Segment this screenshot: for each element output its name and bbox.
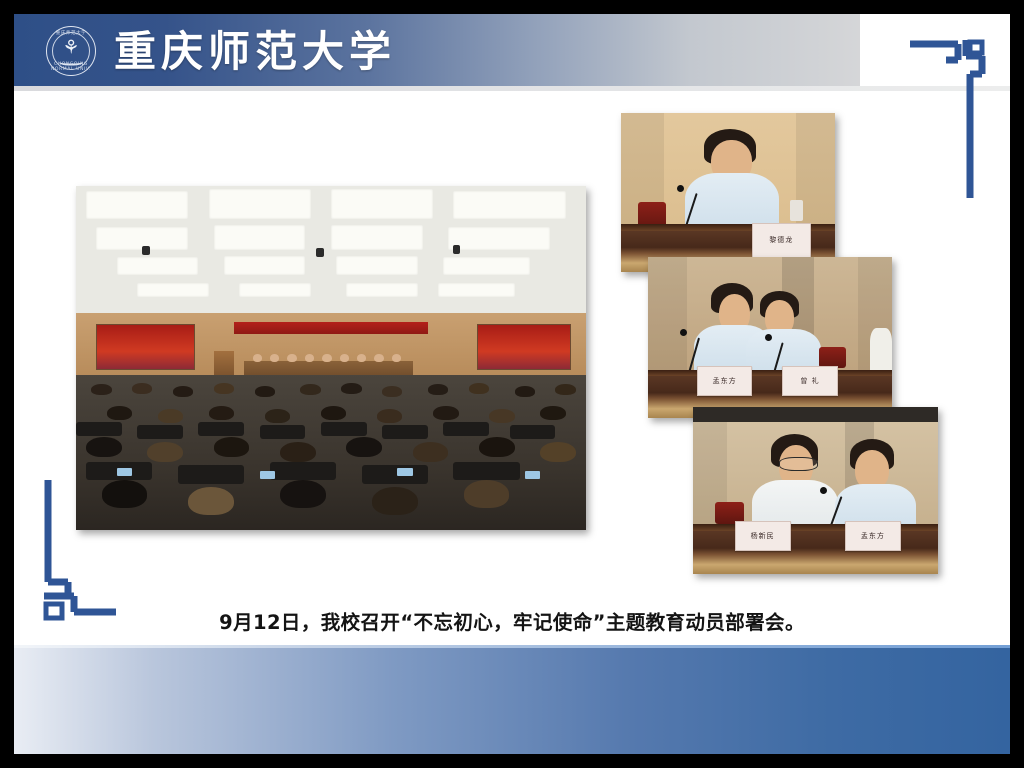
audience-seating (76, 375, 586, 530)
speakers-middle-scene: 孟东方 曾 礼 (648, 257, 892, 418)
nameplate-right: 曾 礼 (782, 366, 838, 395)
nameplate-left: 杨新民 (735, 521, 791, 551)
nameplate: 黎德龙 (752, 223, 812, 258)
photo-speakers-bottom[interactable]: 杨新民 孟东方 (693, 407, 938, 574)
emblem-ring-text-top: 重庆师范大学 (47, 30, 95, 36)
speaker-top-scene: 黎德龙 (621, 113, 835, 272)
stage-banner (234, 322, 428, 334)
photo-conference-hall[interactable] (76, 186, 586, 530)
header-underline (14, 86, 1010, 91)
speakers-bottom-scene: 杨新民 孟东方 (693, 407, 938, 574)
university-emblem-icon: 重庆师范大学 ⚘ CHONGQING NORMAL UNIV. (46, 26, 96, 76)
table-edge (693, 524, 938, 531)
led-screen-right (477, 324, 571, 371)
nameplate-right: 孟东方 (845, 521, 901, 551)
led-screen-left (96, 324, 195, 371)
corner-bracket-ornament-top-right (908, 34, 992, 202)
conference-table (693, 531, 938, 574)
emblem-ring-text-bottom: CHONGQING NORMAL UNIV. (47, 62, 95, 72)
footer-band (14, 648, 1010, 754)
photo-speaker-top[interactable]: 黎德龙 (621, 113, 835, 272)
photo-speakers-middle[interactable]: 孟东方 曾 礼 (648, 257, 892, 418)
conference-hall-scene (76, 186, 586, 530)
nameplate-left: 孟东方 (697, 366, 753, 395)
slide-caption: 9月12日，我校召开“不忘初心，牢记使命”主题教育动员部署会。 (14, 606, 1010, 635)
emblem-center-glyph: ⚘ (62, 39, 79, 58)
hall-ceiling (76, 186, 586, 313)
university-name-title: 重庆师范大学 (114, 24, 396, 80)
presentation-slide: 重庆师范大学 ⚘ CHONGQING NORMAL UNIV. 重庆师范大学 (14, 14, 1010, 754)
